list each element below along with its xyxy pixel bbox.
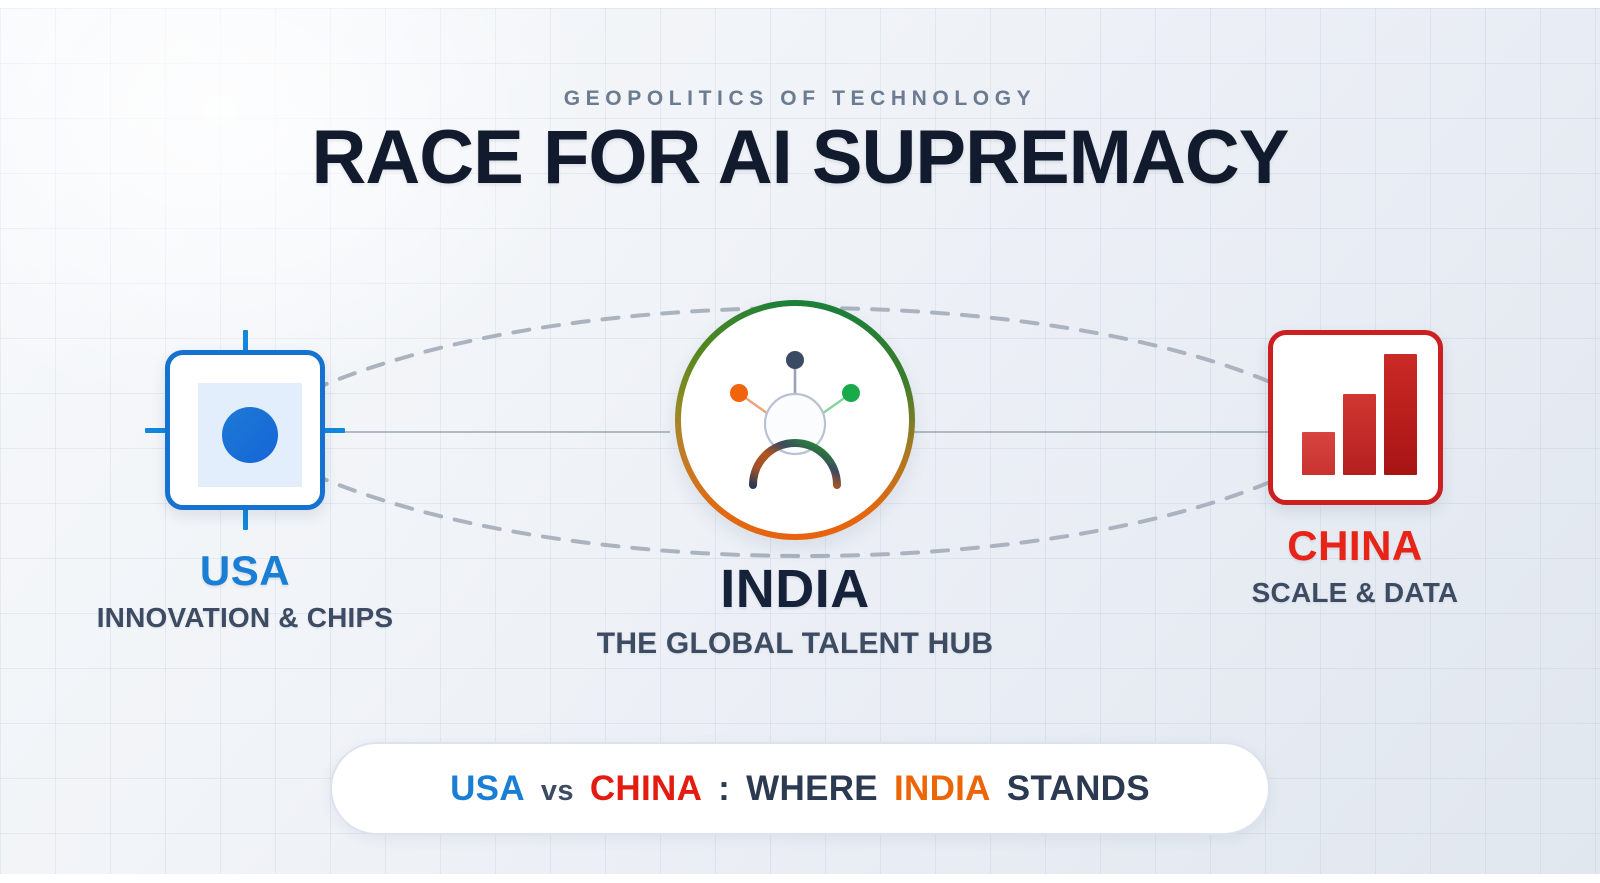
node-china[interactable]: CHINA SCALE & DATA [1175,330,1535,609]
banner-word-stands: STANDS [1007,769,1150,808]
kicker-text: GEOPOLITICS OF TECHNOLOGY [0,86,1600,111]
bar-small-icon [1302,432,1335,475]
page-title: RACE FOR AI SUPREMACY [0,117,1600,199]
banner-word-colon: : [718,769,730,808]
bar-large-icon [1384,354,1417,475]
node-india[interactable]: INDIA THE GLOBAL TALENT HUB [545,300,1045,662]
chip-core-icon [222,407,278,463]
chip-icon [165,350,325,510]
summary-banner: USA vs CHINA : WHERE INDIA STANDS [330,742,1270,835]
china-title: CHINA [1175,523,1535,569]
banner-word-usa: USA [450,769,525,808]
china-emblem[interactable] [1268,330,1443,505]
bar-medium-icon [1343,394,1376,475]
india-title: INDIA [545,560,1045,619]
india-subtitle: THE GLOBAL TALENT HUB [545,627,1045,662]
header: GEOPOLITICS OF TECHNOLOGY RACE FOR AI SU… [0,86,1600,199]
node-usa[interactable]: USA INNOVATION & CHIPS [45,330,445,634]
banner-word-where: WHERE [746,769,878,808]
summary-banner-text: USA vs CHINA : WHERE INDIA STANDS [447,769,1153,809]
india-emblem[interactable] [675,300,915,540]
talent-network-icon [675,300,915,540]
usa-title: USA [45,548,445,594]
bar-chart-icon [1268,330,1443,505]
china-subtitle: SCALE & DATA [1175,577,1535,609]
usa-subtitle: INNOVATION & CHIPS [45,602,445,634]
banner-word-india: INDIA [894,769,991,808]
banner-word-china: CHINA [590,769,702,808]
banner-word-vs: vs [541,775,574,807]
infographic-canvas: USA INNOVATION & CHIPS [0,0,1600,883]
usa-chip-emblem[interactable] [145,330,345,530]
